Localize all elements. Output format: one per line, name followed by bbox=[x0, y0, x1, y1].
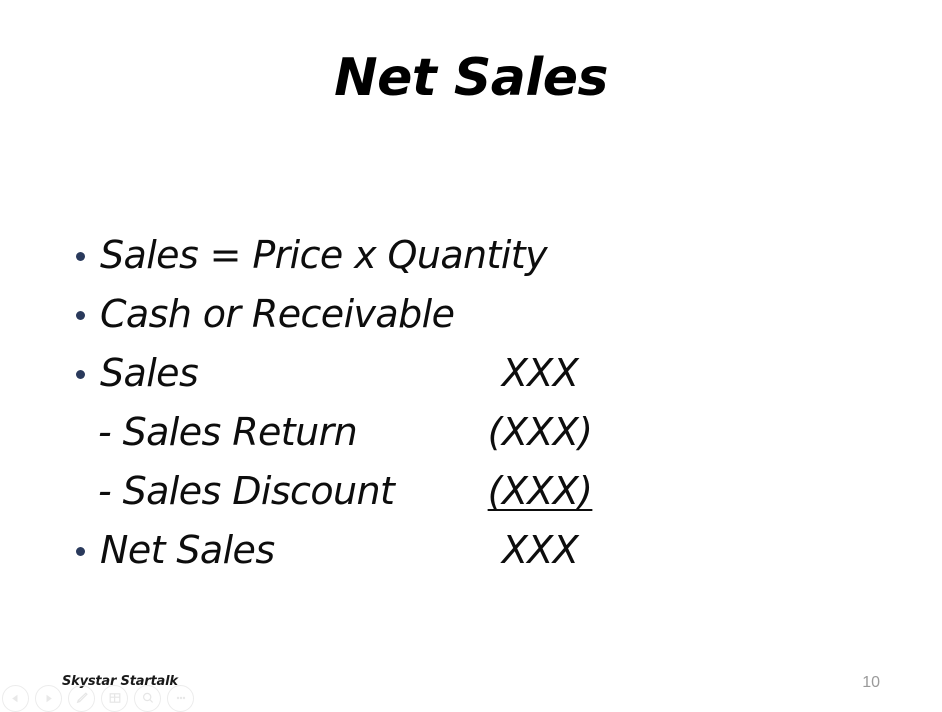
ellipsis-icon bbox=[174, 691, 188, 705]
previous-slide-button[interactable] bbox=[2, 685, 29, 712]
list-item-amount: (XXX) bbox=[450, 403, 630, 462]
list-item-label: Sales = Price x Quantity bbox=[100, 226, 547, 285]
presentation-slide: Net Sales Sales = Price x Quantity Cash … bbox=[0, 0, 942, 710]
list-item-amount: (XXX) bbox=[450, 462, 630, 521]
bullet-icon bbox=[76, 547, 85, 556]
magnifier-icon bbox=[141, 691, 155, 705]
page-title: Net Sales bbox=[0, 48, 942, 108]
pen-tool-button[interactable] bbox=[68, 685, 95, 712]
next-slide-button[interactable] bbox=[35, 685, 62, 712]
triangle-left-icon bbox=[10, 693, 21, 704]
zoom-button[interactable] bbox=[134, 685, 161, 712]
slide-grid-button[interactable] bbox=[101, 685, 128, 712]
list-item: - Sales Discount (XXX) bbox=[70, 462, 710, 521]
page-number: 10 bbox=[862, 674, 880, 692]
list-item: Sales = Price x Quantity bbox=[70, 226, 710, 285]
bullet-icon bbox=[76, 252, 85, 261]
pen-icon bbox=[75, 691, 89, 705]
bullet-icon bbox=[76, 311, 85, 320]
list-item-label: Cash or Receivable bbox=[100, 285, 454, 344]
list-item-label: Net Sales bbox=[100, 521, 275, 580]
list-item-amount: XXX bbox=[450, 521, 630, 580]
list-item-label: - Sales Return bbox=[98, 403, 357, 462]
list-item-label: - Sales Discount bbox=[98, 462, 394, 521]
more-options-button[interactable] bbox=[167, 685, 194, 712]
list-item: Cash or Receivable bbox=[70, 285, 710, 344]
grid-icon bbox=[108, 691, 122, 705]
list-item-label: Sales bbox=[100, 344, 198, 403]
list-item-amount: XXX bbox=[450, 344, 630, 403]
triangle-right-icon bbox=[43, 693, 54, 704]
list-item: Net Sales XXX bbox=[70, 521, 710, 580]
list-item: Sales XXX bbox=[70, 344, 710, 403]
list-item: - Sales Return (XXX) bbox=[70, 403, 710, 462]
bullet-list: Sales = Price x Quantity Cash or Receiva… bbox=[70, 226, 710, 580]
slide-control-bar bbox=[0, 686, 194, 710]
bullet-icon bbox=[76, 370, 85, 379]
